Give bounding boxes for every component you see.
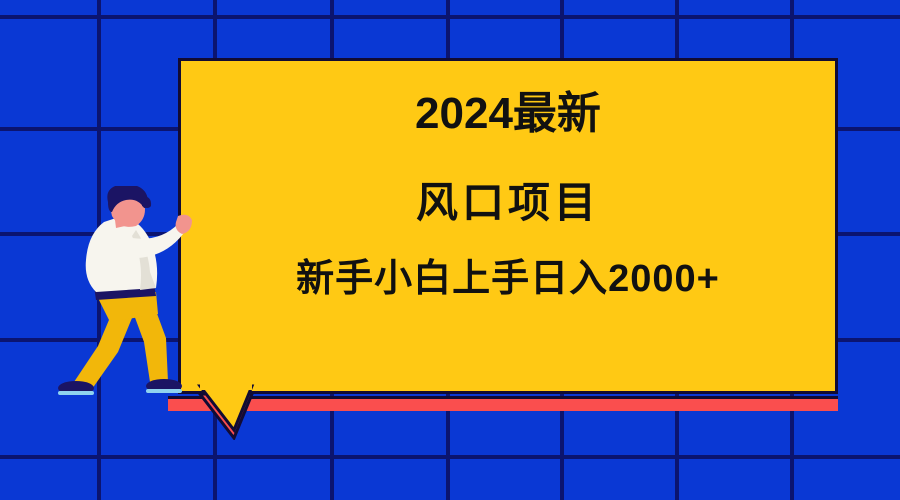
headline-line-3: 新手小白上手日入2000+ <box>296 260 720 298</box>
person-hair-back <box>142 196 151 208</box>
headline-text-block: 2024最新 风口项目 新手小白上手日入2000+ <box>178 58 838 394</box>
person-back-leg <box>74 308 132 389</box>
person-pushing-illustration <box>52 186 192 402</box>
grid-line-horizontal <box>0 455 900 459</box>
person-shoe-sole-back <box>58 391 94 395</box>
headline-line-1: 2024最新 <box>415 92 601 136</box>
person-hand <box>176 215 192 234</box>
promo-poster: 2024最新 风口项目 新手小白上手日入2000+ <box>0 0 900 500</box>
grid-line-horizontal <box>0 15 900 19</box>
person-shoe-sole-front <box>146 389 182 393</box>
headline-line-2: 风口项目 <box>416 182 600 224</box>
